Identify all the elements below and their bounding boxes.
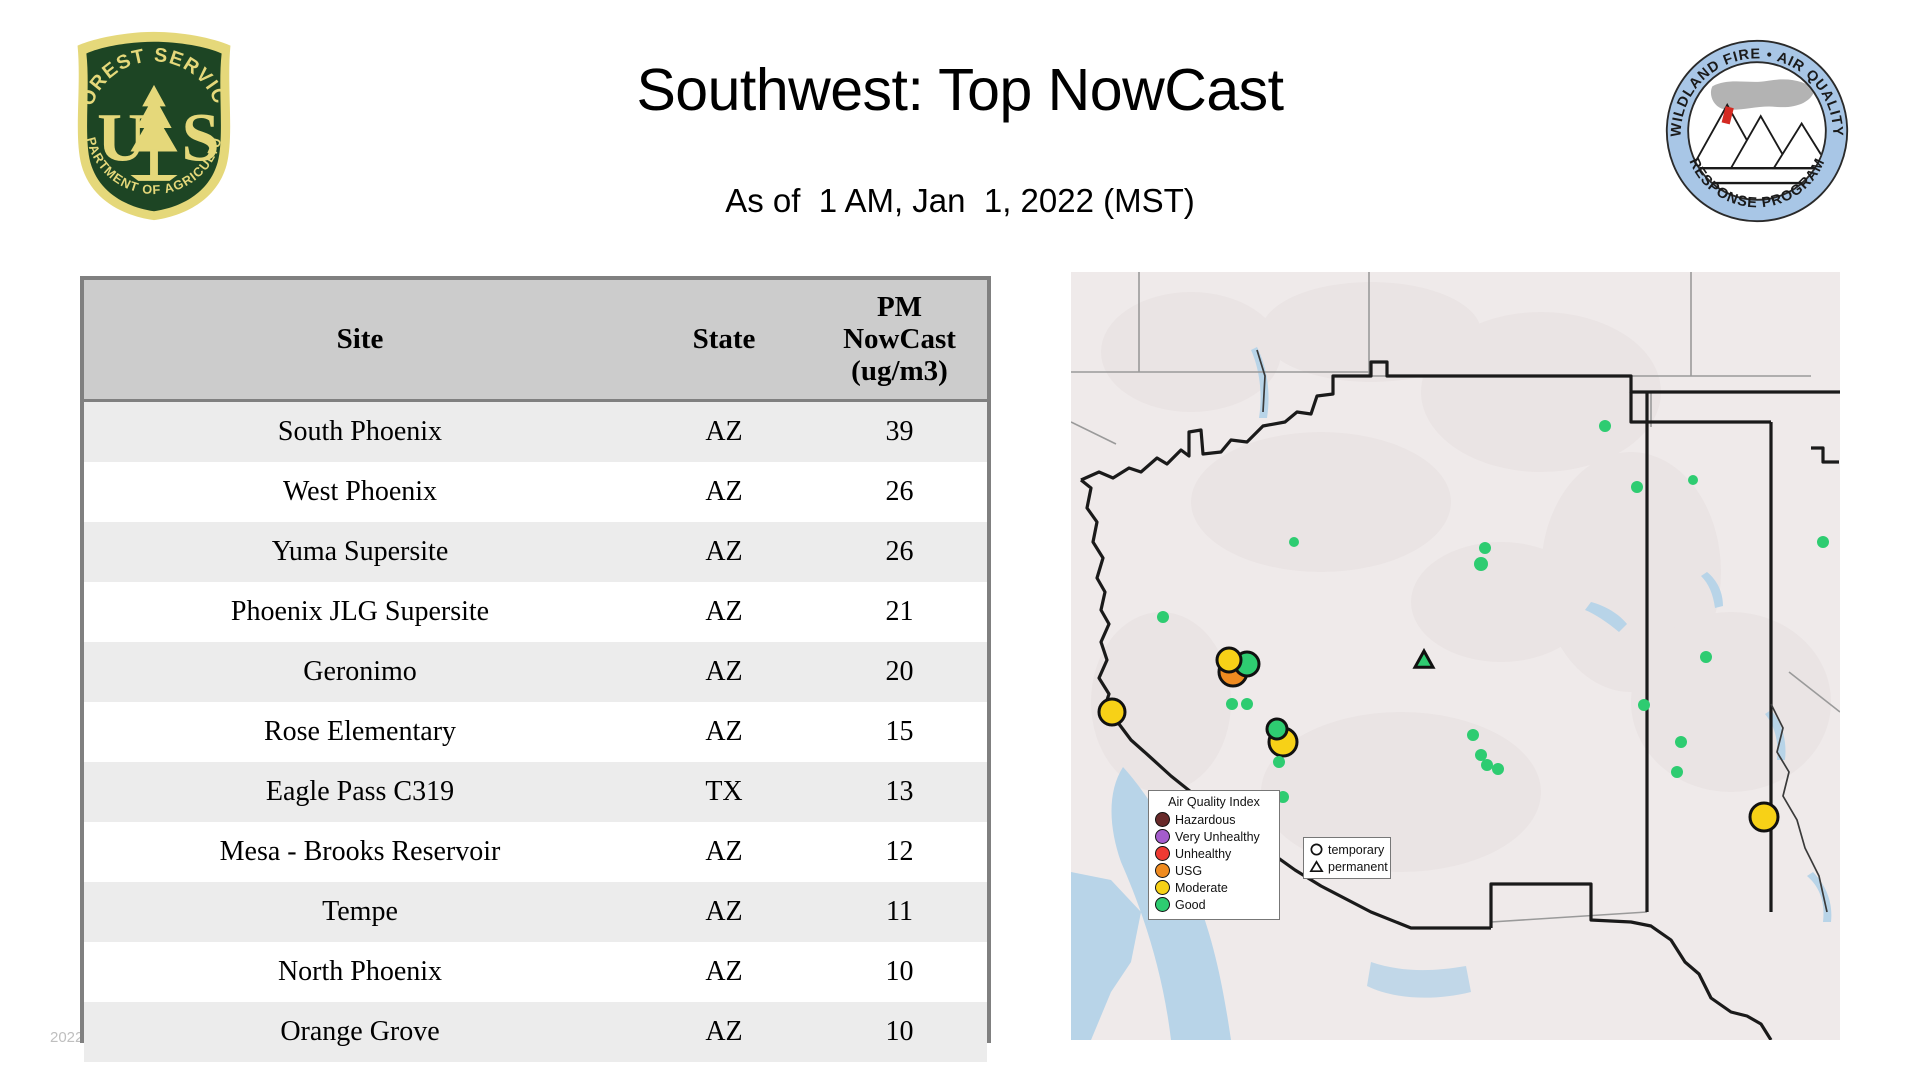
state-cell: AZ — [636, 822, 812, 882]
state-cell: AZ — [636, 702, 812, 762]
symbol-legend-row-temporary: temporary — [1309, 841, 1385, 858]
site-cell: North Phoenix — [84, 942, 636, 1002]
symbol-legend-label-temporary: temporary — [1328, 843, 1384, 857]
pm-cell: 12 — [812, 822, 987, 882]
map-marker-temporary[interactable] — [1675, 736, 1687, 748]
pm-cell: 20 — [812, 642, 987, 702]
state-cell: AZ — [636, 642, 812, 702]
column-header-pm-line2: NowCast — [812, 323, 987, 355]
table-header: Site State PM NowCast (ug/m3) — [84, 280, 987, 400]
map-marker-temporary[interactable] — [1481, 759, 1493, 771]
state-cell: AZ — [636, 942, 812, 1002]
aqi-color-swatch-icon — [1155, 812, 1170, 827]
aqi-color-swatch-icon — [1155, 880, 1170, 895]
aqi-color-swatch-icon — [1155, 863, 1170, 878]
map-marker-temporary[interactable] — [1474, 557, 1488, 571]
map-marker-temporary[interactable] — [1267, 719, 1287, 739]
state-cell: AZ — [636, 882, 812, 942]
pm-cell: 26 — [812, 462, 987, 522]
wfaqrp-seal-logo: WILDLAND FIRE • AIR QUALITY RESPONSE PRO… — [1664, 38, 1850, 224]
aqi-legend-item: Moderate — [1155, 879, 1273, 896]
column-header-site: Site — [84, 280, 636, 400]
map-marker-temporary[interactable] — [1289, 537, 1299, 547]
site-cell: Phoenix JLG Supersite — [84, 582, 636, 642]
map-marker-temporary[interactable] — [1750, 803, 1778, 831]
pm-cell: 21 — [812, 582, 987, 642]
map-marker-temporary[interactable] — [1599, 420, 1611, 432]
column-header-pm-line1: PM — [812, 291, 987, 323]
aqi-legend-label: Good — [1175, 898, 1206, 912]
table-row: Yuma SupersiteAZ26 — [84, 522, 987, 582]
table-header-row: Site State PM NowCast (ug/m3) — [84, 280, 987, 400]
pm-cell: 39 — [812, 400, 987, 462]
table-row: South PhoenixAZ39 — [84, 400, 987, 462]
aqi-color-swatch-icon — [1155, 846, 1170, 861]
state-cell: AZ — [636, 1002, 812, 1062]
aqi-legend-item: Unhealthy — [1155, 845, 1273, 862]
pm-cell: 26 — [812, 522, 987, 582]
state-cell: AZ — [636, 522, 812, 582]
top-nowcast-table-container: Site State PM NowCast (ug/m3) South Phoe… — [80, 276, 991, 1043]
map-marker-temporary[interactable] — [1273, 756, 1285, 768]
aqi-color-swatch-icon — [1155, 897, 1170, 912]
map-marker-temporary[interactable] — [1467, 729, 1479, 741]
aqi-legend-label: Very Unhealthy — [1175, 830, 1260, 844]
aqi-legend-item: Very Unhealthy — [1155, 828, 1273, 845]
symbol-legend-label-permanent: permanent — [1328, 860, 1388, 874]
permanent-triangle-icon — [1309, 859, 1324, 874]
table-row: West PhoenixAZ26 — [84, 462, 987, 522]
map-marker-temporary[interactable] — [1099, 699, 1125, 725]
aqi-legend-item: Hazardous — [1155, 811, 1273, 828]
table-row: Orange GroveAZ10 — [84, 1002, 987, 1062]
table-row: Rose ElementaryAZ15 — [84, 702, 987, 762]
aqi-legend-item: USG — [1155, 862, 1273, 879]
pm-cell: 10 — [812, 942, 987, 1002]
page-title: Southwest: Top NowCast — [400, 60, 1520, 122]
aqi-legend-box: Air Quality Index HazardousVery Unhealth… — [1148, 790, 1280, 920]
symbol-legend-row-permanent: permanent — [1309, 858, 1385, 875]
aqi-color-swatch-icon — [1155, 829, 1170, 844]
air-quality-monitor-map[interactable]: Air Quality Index HazardousVery Unhealth… — [1071, 272, 1840, 1040]
map-marker-temporary[interactable] — [1631, 481, 1643, 493]
top-nowcast-table: Site State PM NowCast (ug/m3) South Phoe… — [84, 280, 987, 1062]
pm-cell: 11 — [812, 882, 987, 942]
aqi-legend-title: Air Quality Index — [1155, 795, 1273, 809]
pm-cell: 15 — [812, 702, 987, 762]
table-row: TempeAZ11 — [84, 882, 987, 942]
aqi-legend-label: Hazardous — [1175, 813, 1235, 827]
table-body: South PhoenixAZ39West PhoenixAZ26Yuma Su… — [84, 400, 987, 1062]
us-forest-service-logo: FOREST SERVICE U S DEPARTMENT OF AGRICUL… — [56, 28, 252, 224]
column-header-pm-line3: (ug/m3) — [812, 355, 987, 387]
site-cell: West Phoenix — [84, 462, 636, 522]
table-row: Mesa - Brooks ReservoirAZ12 — [84, 822, 987, 882]
map-marker-temporary[interactable] — [1492, 763, 1504, 775]
map-marker-temporary[interactable] — [1475, 749, 1487, 761]
site-cell: Mesa - Brooks Reservoir — [84, 822, 636, 882]
map-canvas — [1071, 272, 1840, 1040]
pm-cell: 10 — [812, 1002, 987, 1062]
state-cell: AZ — [636, 400, 812, 462]
table-row: North PhoenixAZ10 — [84, 942, 987, 1002]
site-cell: Yuma Supersite — [84, 522, 636, 582]
state-cell: AZ — [636, 582, 812, 642]
site-cell: Geronimo — [84, 642, 636, 702]
symbol-legend-box: temporary permanent — [1303, 837, 1391, 879]
aqi-legend-label: Unhealthy — [1175, 847, 1231, 861]
map-marker-temporary[interactable] — [1700, 651, 1712, 663]
map-marker-temporary[interactable] — [1638, 699, 1650, 711]
site-cell: Orange Grove — [84, 1002, 636, 1062]
table-row: GeronimoAZ20 — [84, 642, 987, 702]
map-marker-temporary[interactable] — [1241, 698, 1253, 710]
map-marker-temporary[interactable] — [1479, 542, 1491, 554]
column-header-state: State — [636, 280, 812, 400]
map-marker-temporary[interactable] — [1157, 611, 1169, 623]
pm-cell: 13 — [812, 762, 987, 822]
site-cell: Tempe — [84, 882, 636, 942]
aqi-legend-label: USG — [1175, 864, 1202, 878]
temporary-circle-icon — [1309, 842, 1324, 857]
map-marker-temporary[interactable] — [1217, 648, 1241, 672]
state-cell: TX — [636, 762, 812, 822]
site-cell: Rose Elementary — [84, 702, 636, 762]
map-marker-temporary[interactable] — [1226, 698, 1238, 710]
page-subtitle-timestamp: As of 1 AM, Jan 1, 2022 (MST) — [400, 182, 1520, 220]
map-marker-temporary[interactable] — [1688, 475, 1698, 485]
site-cell: Eagle Pass C319 — [84, 762, 636, 822]
state-cell: AZ — [636, 462, 812, 522]
aqi-legend-rows: HazardousVery UnhealthyUnhealthyUSGModer… — [1155, 811, 1273, 913]
aqi-legend-label: Moderate — [1175, 881, 1228, 895]
site-cell: South Phoenix — [84, 400, 636, 462]
aqi-legend-item: Good — [1155, 896, 1273, 913]
map-marker-temporary[interactable] — [1671, 766, 1683, 778]
map-marker-temporary[interactable] — [1817, 536, 1829, 548]
table-row: Phoenix JLG SupersiteAZ21 — [84, 582, 987, 642]
table-row: Eagle Pass C319TX13 — [84, 762, 987, 822]
column-header-pm-nowcast: PM NowCast (ug/m3) — [812, 280, 987, 400]
